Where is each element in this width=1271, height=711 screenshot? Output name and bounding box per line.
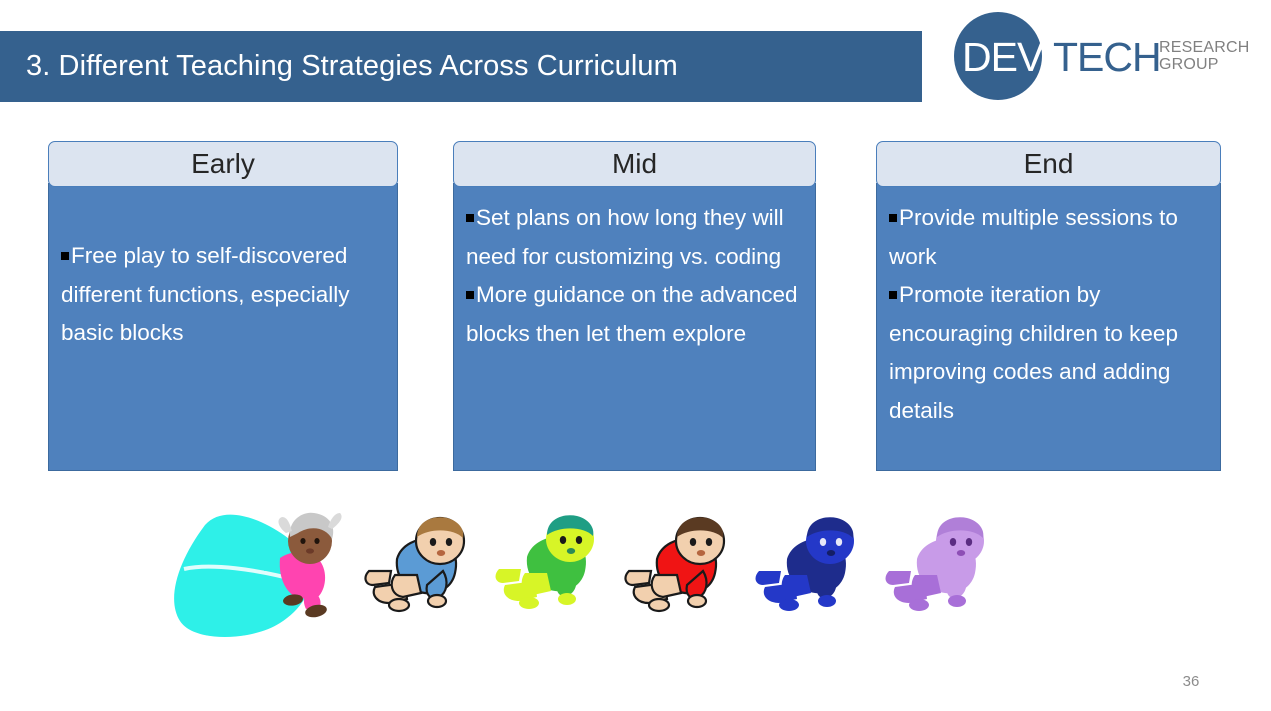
bullet-square-icon [61,252,69,260]
logo-word-tech: TECH [1053,37,1161,78]
crawling-baby-navy-icon [745,513,860,630]
list-item-text: Promote iteration by encouraging childre… [889,282,1178,423]
slide-title-bar: 3. Different Teaching Strategies Across … [0,31,922,102]
bullet-square-icon [466,291,474,299]
panel-mid-body: Set plans on how long they will need for… [453,183,816,471]
panel-early: Early Free play to self-discovered diffe… [48,141,398,471]
list-item: Promote iteration by encouraging childre… [889,276,1210,430]
page-title: 3. Different Teaching Strategies Across … [0,50,678,83]
panel-end-body: Provide multiple sessions to work Promot… [876,183,1221,471]
bullet-square-icon [466,214,474,222]
list-item-text: Set plans on how long they will need for… [466,205,784,269]
logo-word-dev: DEV [962,37,1043,78]
logo-subtitle-line-2: GROUP [1159,56,1250,73]
list-item-text: Provide multiple sessions to work [889,205,1178,269]
crawling-baby-blue-icon [355,513,470,630]
crawling-figures-illustration [160,498,1040,648]
panel-mid-header: Mid [453,141,816,187]
panel-end-header: End [876,141,1221,187]
panel-end: End Provide multiple sessions to work Pr… [876,141,1221,471]
list-item: Provide multiple sessions to work [889,199,1210,276]
panel-early-body: Free play to self-discovered different f… [48,183,398,471]
panel-mid: Mid Set plans on how long they will need… [453,141,816,471]
page-number: 36 [1163,673,1219,690]
bullet-square-icon [889,214,897,222]
list-item: More guidance on the advanced blocks the… [466,276,805,353]
logo-subtitle: RESEARCH GROUP [1159,39,1250,73]
list-item-text: More guidance on the advanced blocks the… [466,282,797,346]
list-item-text: Free play to self-discovered different f… [61,243,350,345]
crawling-baby-green-icon [485,511,600,628]
list-item: Set plans on how long they will need for… [466,199,805,276]
list-item: Free play to self-discovered different f… [61,237,387,353]
bullet-square-icon [889,291,897,299]
crawling-baby-red-icon [615,513,730,630]
crawling-baby-purple-icon [875,513,990,630]
crawling-elder-pink-icon [160,503,345,648]
panel-early-header: Early [48,141,398,187]
devtech-logo: DEV TECH RESEARCH GROUP [950,8,1250,104]
logo-subtitle-line-1: RESEARCH [1159,39,1250,56]
